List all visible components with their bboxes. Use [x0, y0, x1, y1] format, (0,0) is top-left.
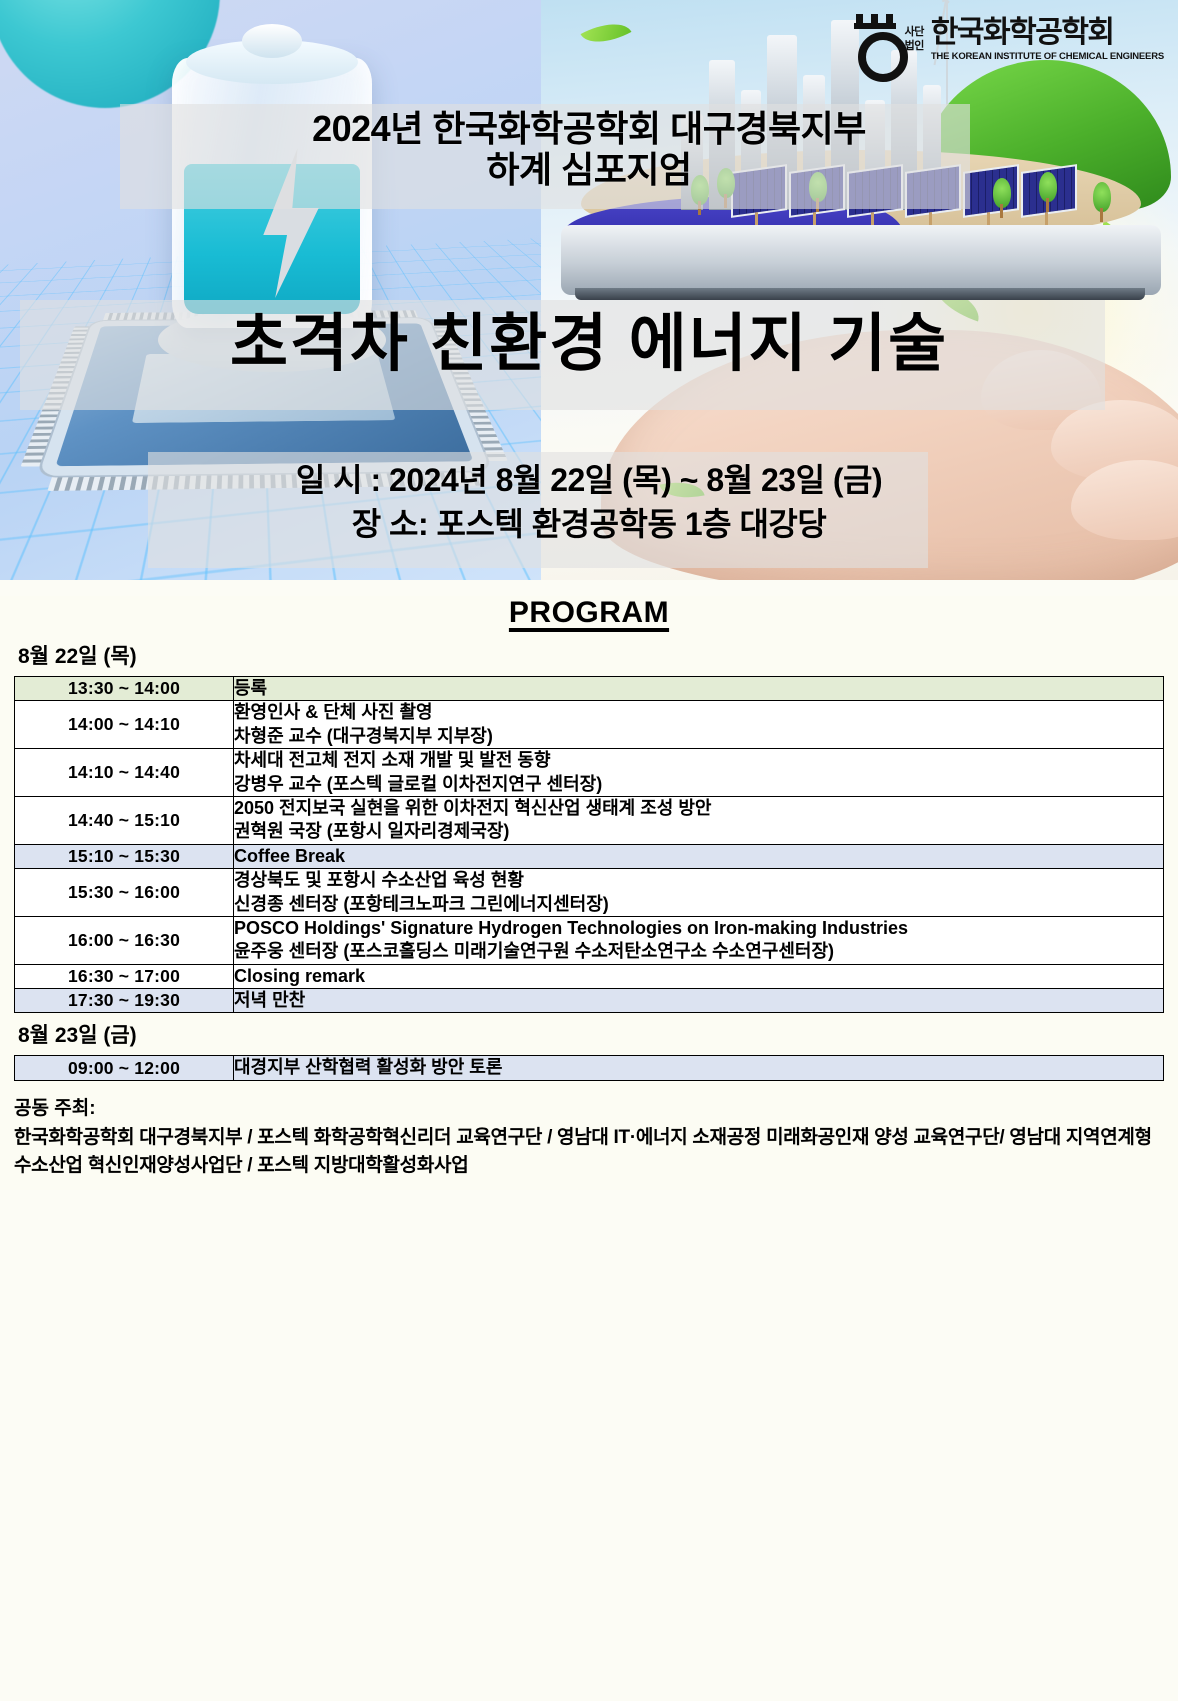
- emblem-ring: [858, 32, 908, 82]
- table-row: 09:00 ~ 12:00 대경지부 산학협력 활성화 방안 토론: [15, 1056, 1164, 1080]
- schedule-table-day1: 13:30 ~ 14:00 등록 14:00 ~ 14:10 환영인사 & 단체…: [14, 676, 1164, 1013]
- table-row: 13:30 ~ 14:00 등록: [15, 677, 1164, 701]
- row-speaker: 권혁원 국장 (포항시 일자리경제국장): [234, 820, 1164, 844]
- table-row: 16:30 ~ 17:00 Closing remark: [15, 964, 1164, 988]
- emblem-crown: [854, 14, 896, 29]
- row-speaker: 신경종 센터장 (포항테크노파크 그린에너지센터장): [234, 893, 1164, 917]
- row-time: 15:10 ~ 15:30: [15, 844, 234, 868]
- logo-corporation-label: 사단 법인: [905, 26, 924, 54]
- footer-organizers: 공동 주최: 한국화학공학회 대구경북지부 / 포스텍 화학공학혁신리더 교육연…: [14, 1095, 1164, 1190]
- row-time: 14:40 ~ 15:10: [15, 796, 234, 844]
- table-row: 14:00 ~ 14:10 환영인사 & 단체 사진 촬영: [15, 701, 1164, 725]
- logo-text-block: 한국화학공학회 THE KOREAN INSTITUTE OF CHEMICAL…: [931, 18, 1164, 62]
- tablet-device: [561, 225, 1161, 295]
- tablet-edge: [575, 288, 1145, 300]
- row-title: 환영인사 & 단체 사진 촬영: [234, 701, 1164, 725]
- kiche-logo: 사단 법인 한국화학공학회 THE KOREAN INSTITUTE OF CH…: [852, 12, 1164, 68]
- row-title: 차세대 전고체 전지 소재 개발 및 발전 동향: [234, 749, 1164, 773]
- program-heading: PROGRAM: [14, 596, 1164, 630]
- table-row: 15:10 ~ 15:30 Coffee Break: [15, 844, 1164, 868]
- row-speaker: 윤주웅 센터장 (포스코홀딩스 미래기술연구원 수소저탄소연구소 수소연구센터장…: [234, 940, 1164, 964]
- event-title: 2024년 한국화학공학회 대구경북지부 하계 심포지엄: [0, 108, 1178, 191]
- poster-banner: 사단 법인 한국화학공학회 THE KOREAN INSTITUTE OF CH…: [0, 0, 1178, 580]
- row-title: Coffee Break: [234, 844, 1164, 868]
- logo-name-ko: 한국화학공학회: [931, 18, 1164, 48]
- leaf-icon: [581, 12, 632, 53]
- table-row: 14:10 ~ 14:40 차세대 전고체 전지 소재 개발 및 발전 동향: [15, 749, 1164, 773]
- day-label-1: 8월 22일 (목): [18, 640, 1164, 670]
- table-row: 15:30 ~ 16:00 경상북도 및 포항시 수소산업 육성 현황: [15, 869, 1164, 893]
- turbine-blade: [942, 0, 1008, 2]
- poster-root: 사단 법인 한국화학공학회 THE KOREAN INSTITUTE OF CH…: [0, 0, 1178, 1701]
- logo-name-en: THE KOREAN INSTITUTE OF CHEMICAL ENGINEE…: [931, 51, 1164, 62]
- row-title: 2050 전지보국 실현을 위한 이차전지 혁신산업 생태계 조성 방안: [234, 796, 1164, 820]
- row-time: 17:30 ~ 19:30: [15, 989, 234, 1013]
- row-time: 16:30 ~ 17:00: [15, 964, 234, 988]
- footer-body: 한국화학공학회 대구경북지부 / 포스텍 화학공학혁신리더 교육연구단 / 영남…: [14, 1124, 1164, 1179]
- main-theme: 초격차 친환경 에너지 기술: [0, 308, 1178, 380]
- table-row: 17:30 ~ 19:30 저녁 만찬: [15, 989, 1164, 1013]
- footer-heading: 공동 주최:: [14, 1095, 1164, 1123]
- kiche-emblem-icon: [852, 12, 898, 68]
- row-title: 저녁 만찬: [234, 989, 1164, 1013]
- event-info: 일 시 : 2024년 8월 22일 (목) ~ 8월 23일 (금) 장 소:…: [0, 458, 1178, 546]
- day-label-2: 8월 23일 (금): [18, 1019, 1164, 1049]
- row-title: POSCO Holdings' Signature Hydrogen Techn…: [234, 916, 1164, 940]
- row-time: 15:30 ~ 16:00: [15, 869, 234, 917]
- table-row: 14:40 ~ 15:10 2050 전지보국 실현을 위한 이차전지 혁신산업…: [15, 796, 1164, 820]
- battery-terminal: [242, 24, 302, 58]
- row-time: 13:30 ~ 14:00: [15, 677, 234, 701]
- row-time: 14:10 ~ 14:40: [15, 749, 234, 797]
- table-row: 16:00 ~ 16:30 POSCO Holdings' Signature …: [15, 916, 1164, 940]
- row-time: 16:00 ~ 16:30: [15, 916, 234, 964]
- row-title: Closing remark: [234, 964, 1164, 988]
- row-speaker: 차형준 교수 (대구경북지부 지부장): [234, 725, 1164, 749]
- schedule-table-day2: 09:00 ~ 12:00 대경지부 산학협력 활성화 방안 토론: [14, 1055, 1164, 1080]
- row-time: 14:00 ~ 14:10: [15, 701, 234, 749]
- row-speaker: 강병우 교수 (포스텍 글로컬 이차전지연구 센터장): [234, 773, 1164, 797]
- row-title: 등록: [234, 677, 1164, 701]
- program-section: PROGRAM 8월 22일 (목) 13:30 ~ 14:00 등록 14:0…: [0, 596, 1178, 1190]
- row-time: 09:00 ~ 12:00: [15, 1056, 234, 1080]
- logo-corp-line1: 사단: [905, 26, 924, 40]
- row-title: 경상북도 및 포항시 수소산업 육성 현황: [234, 869, 1164, 893]
- row-title: 대경지부 산학협력 활성화 방안 토론: [234, 1056, 1164, 1080]
